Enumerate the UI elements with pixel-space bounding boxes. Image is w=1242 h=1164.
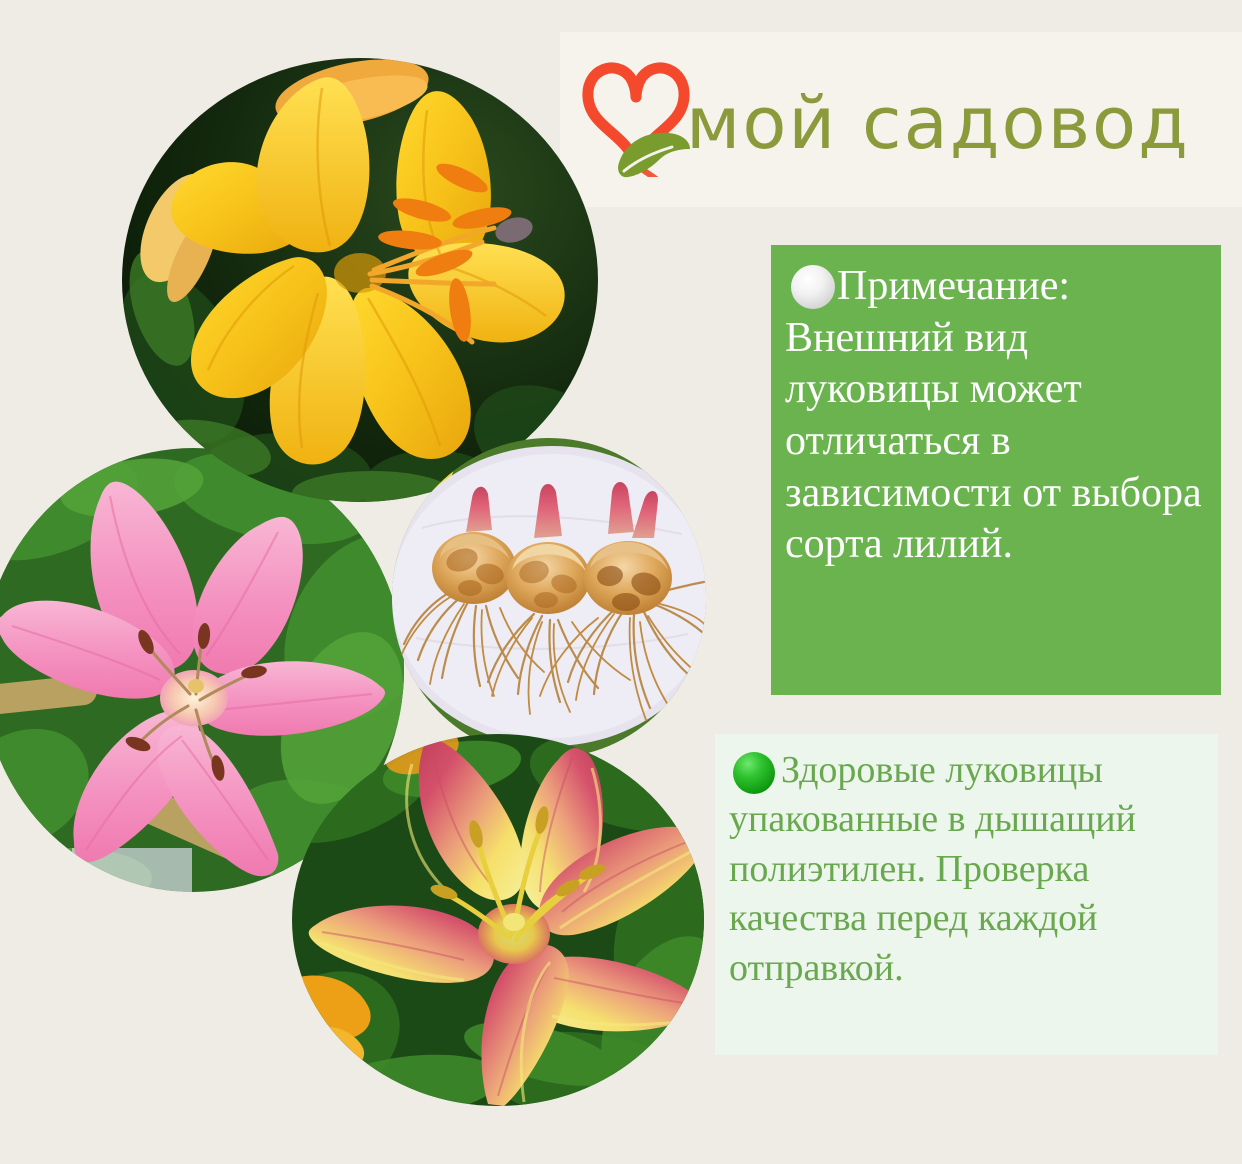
- note-light-box: Здоровые луковицы упакованные в дышащий …: [715, 734, 1218, 1055]
- yellow-lily-photo: [122, 58, 598, 502]
- note-green-box: Примечание: Внешний вид луковицы может о…: [771, 245, 1221, 695]
- brand-logo[interactable]: мой садовод: [560, 32, 1242, 207]
- leaf-icon: [616, 119, 692, 181]
- note-green-text: Примечание: Внешний вид луковицы может о…: [785, 261, 1203, 571]
- logo-mark: [580, 57, 692, 182]
- promo-banner: мой садовод: [0, 0, 1242, 1164]
- green-sphere-bullet-icon: [733, 752, 775, 794]
- brand-name: мой садовод: [686, 81, 1190, 165]
- note-light-text: Здоровые луковицы упакованные в дышащий …: [729, 746, 1202, 993]
- lily-bulbs-photo: [392, 438, 706, 758]
- bicolor-lily-photo: [292, 734, 704, 1106]
- white-sphere-bullet-icon: [791, 265, 835, 309]
